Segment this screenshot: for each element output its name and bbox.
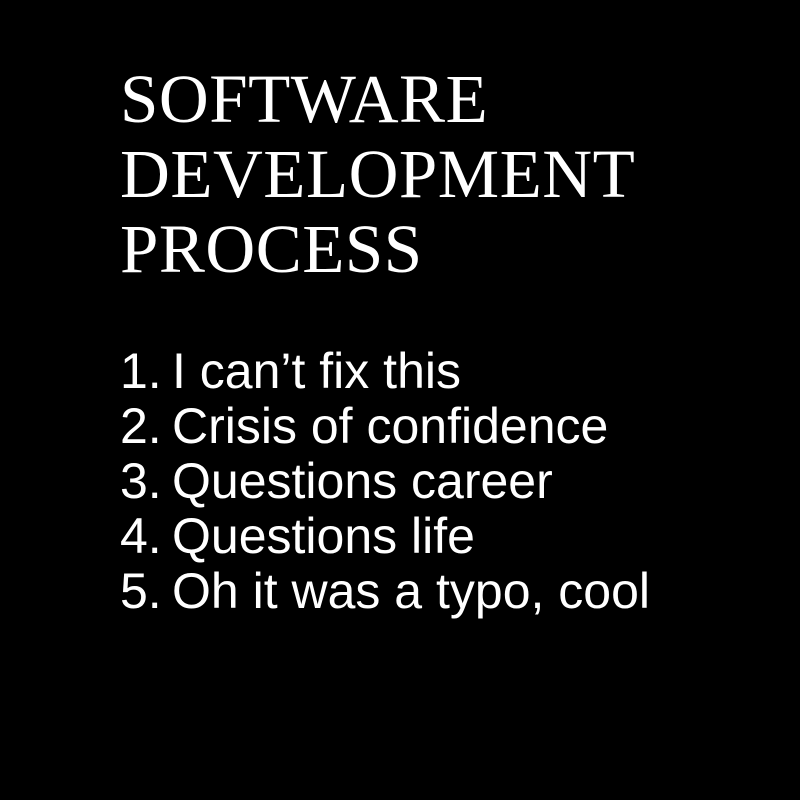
- list-item: 3. Questions career: [120, 454, 760, 509]
- title-line-1: SOFTWARE: [120, 62, 720, 137]
- title-line-2: DEVELOPMENT: [120, 137, 720, 212]
- list-item-label: I can’t fix this: [172, 344, 461, 399]
- list-item-marker: 2.: [120, 399, 172, 454]
- list-item-label: Questions career: [172, 454, 553, 509]
- page-title: SOFTWARE DEVELOPMENT PROCESS: [120, 62, 720, 287]
- list-item: 4. Questions life: [120, 509, 760, 564]
- list-item-marker: 4.: [120, 509, 172, 564]
- list-item-marker: 1.: [120, 344, 172, 399]
- list-item-label: Crisis of confidence: [172, 399, 608, 454]
- list-item-marker: 5.: [120, 564, 172, 619]
- title-line-3: PROCESS: [120, 212, 720, 287]
- list-item-marker: 3.: [120, 454, 172, 509]
- list-item: 5. Oh it was a typo, cool: [120, 564, 760, 619]
- list-item: 2. Crisis of confidence: [120, 399, 760, 454]
- list-item-label: Oh it was a typo, cool: [172, 564, 650, 619]
- numbered-list: 1. I can’t fix this 2. Crisis of confide…: [120, 344, 760, 619]
- list-item-label: Questions life: [172, 509, 475, 564]
- slide-canvas: SOFTWARE DEVELOPMENT PROCESS 1. I can’t …: [0, 0, 800, 800]
- list-item: 1. I can’t fix this: [120, 344, 760, 399]
